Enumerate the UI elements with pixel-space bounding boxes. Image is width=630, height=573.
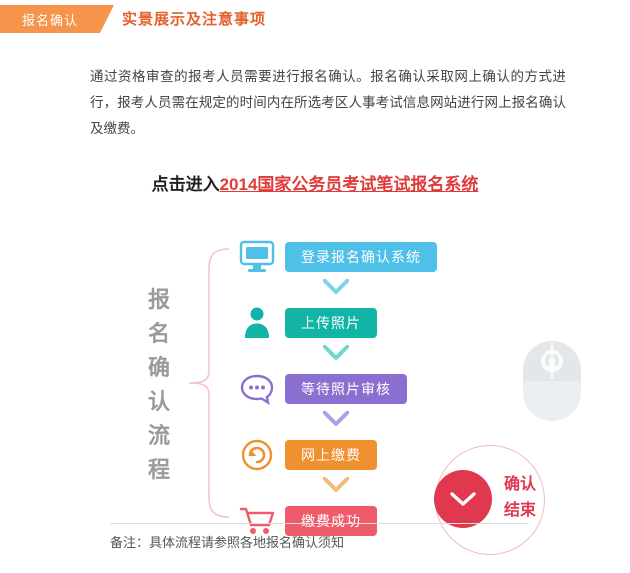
- intro-paragraph: 通过资格审查的报考人员需要进行报名确认。报名确认采取网上确认的方式进行，报考人员…: [90, 64, 566, 142]
- exam-registration-system-link[interactable]: 2014国家公务员考试笔试报名系统: [220, 175, 479, 194]
- refresh-icon: [235, 433, 279, 477]
- flow-step-2-label: 上传照片: [285, 308, 377, 338]
- flow-brace: [187, 247, 231, 519]
- page-header: 报名确认 实景展示及注意事项: [0, 0, 630, 36]
- chat-bubble-icon: [235, 367, 279, 411]
- page-title: 实景展示及注意事项: [122, 8, 266, 29]
- flow-diagram: 报名确认流程 登录报名确认系统: [35, 223, 595, 553]
- flow-arrow-4: [323, 477, 349, 493]
- confirm-end-line2: 结束: [498, 498, 542, 524]
- entry-line: 点击进入2014国家公务员考试笔试报名系统: [0, 170, 630, 195]
- entry-prefix: 点击进入: [152, 175, 220, 194]
- flow-vertical-title: 报名确认流程: [143, 283, 177, 487]
- flow-arrow-1: [323, 279, 349, 295]
- flow-step-2: 上传照片: [235, 301, 495, 345]
- flow-arrow-2: [323, 345, 349, 361]
- flow-step-1-label: 登录报名确认系统: [285, 242, 437, 272]
- computer-mouse-icon: [513, 333, 591, 429]
- header-tag-notch: [100, 5, 114, 33]
- confirm-end-line1: 确认: [498, 472, 542, 498]
- chevron-down-icon: [434, 470, 492, 528]
- confirm-end-text: 确认 结束: [498, 472, 542, 524]
- flow-step-3: 等待照片审核: [235, 367, 495, 411]
- intro-text: 通过资格审查的报考人员需要进行报名确认。报名确认采取网上确认的方式进行，报考人员…: [90, 64, 566, 142]
- flow-step-3-label: 等待照片审核: [285, 374, 407, 404]
- footnote: 备注：具体流程请参照各地报名确认须知: [110, 523, 528, 551]
- monitor-icon: [235, 235, 279, 279]
- person-icon: [235, 301, 279, 345]
- flow-arrow-3: [323, 411, 349, 427]
- flow-step-1: 登录报名确认系统: [235, 235, 495, 279]
- flow-step-4-label: 网上缴费: [285, 440, 377, 470]
- header-tag: 报名确认: [0, 5, 100, 33]
